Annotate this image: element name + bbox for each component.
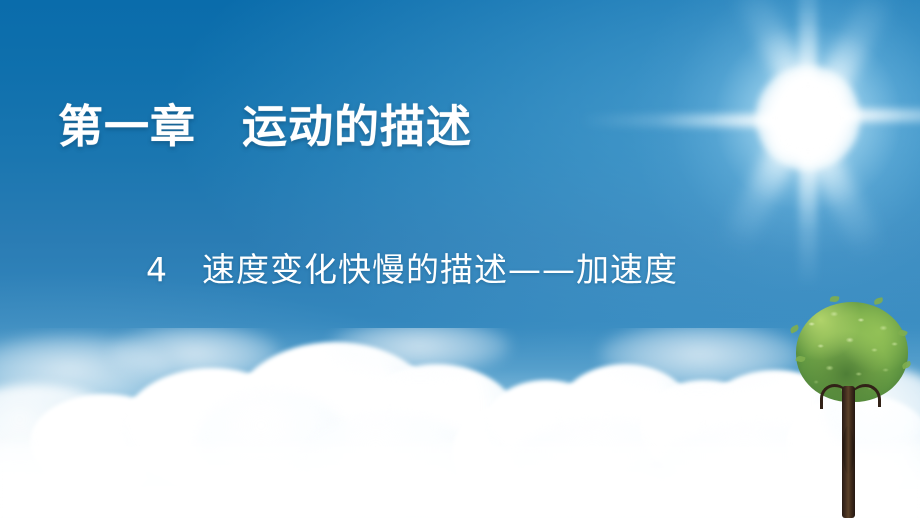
tree-sprig (874, 297, 884, 304)
tree-trunk (842, 386, 855, 518)
cloud-base (0, 442, 920, 518)
clouds-icon (0, 328, 920, 518)
chapter-title: 第一章 运动的描述 (58, 90, 472, 155)
tree-icon (790, 300, 915, 518)
lesson-title: 4 速度变化快慢的描述——加速度 (146, 243, 678, 291)
presentation-slide: 第一章 运动的描述 4 速度变化快慢的描述——加速度 (0, 0, 920, 518)
tree-sprig (830, 295, 840, 302)
tree-sprig (789, 324, 800, 333)
